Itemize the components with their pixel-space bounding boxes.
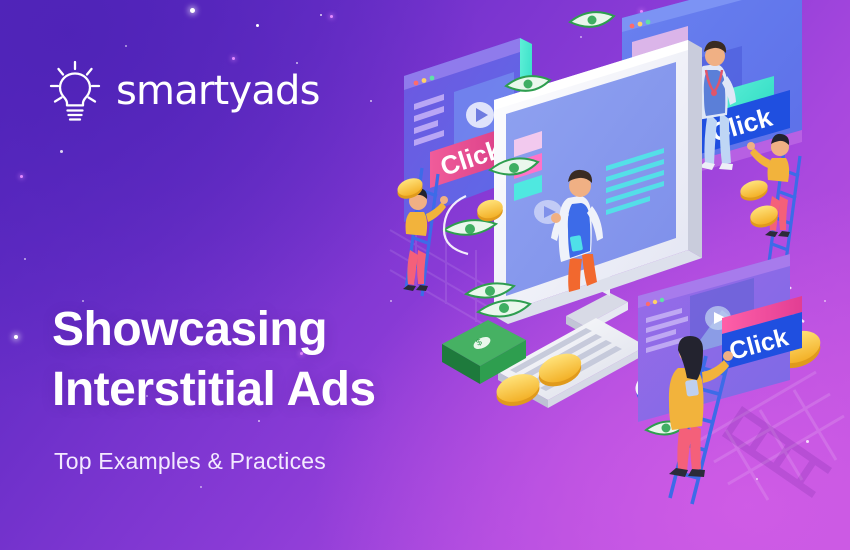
hero-illustration: Click	[370, 0, 850, 550]
promo-banner: smartyads Showcasing Interstitial Ads To…	[0, 0, 850, 550]
title-line-2: Interstitial Ads	[52, 360, 376, 420]
brand-logo[interactable]: smartyads	[46, 58, 320, 124]
brand-name: smartyads	[116, 71, 320, 111]
person-on-ladder-top-right	[747, 134, 800, 276]
page-subtitle: Top Examples & Practices	[54, 448, 326, 475]
title-line-1: Showcasing	[52, 303, 327, 356]
lightbulb-icon	[46, 58, 104, 124]
page-title: Showcasing Interstitial Ads	[52, 300, 376, 421]
play-button-icon	[466, 102, 494, 128]
